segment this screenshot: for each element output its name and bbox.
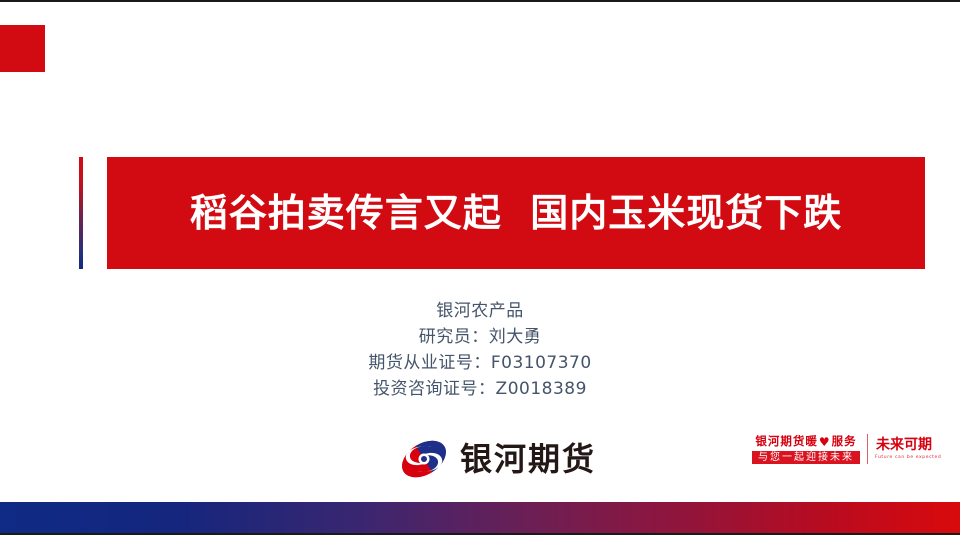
footer-stamp-group: 银河期货暖 ♥ 服务 与您一起迎接未来 未来可期 Future can be e… (752, 434, 933, 464)
service-slogan-suffix: 服务 (832, 434, 857, 449)
top-divider-rule (0, 0, 960, 2)
author-line-futures-license: 期货从业证号：F03107370 (0, 350, 960, 376)
page-title: 稻谷拍卖传言又起 国内玉米现货下跌 (190, 194, 842, 232)
author-line-researcher: 研究员：刘大勇 (0, 324, 960, 350)
stamp-divider (867, 434, 868, 464)
title-banner: 稻谷拍卖传言又起 国内玉米现货下跌 (107, 157, 925, 269)
footer-gradient-strip (0, 502, 960, 533)
presentation-slide: 稻谷拍卖传言又起 国内玉米现货下跌 银河农产品 研究员：刘大勇 期货从业证号：F… (0, 0, 960, 540)
bottom-divider-rule (0, 533, 960, 535)
future-slogan-stamp: 未来可期 Future can be expected (875, 437, 933, 461)
company-logo: 银河期货 (398, 436, 596, 482)
corner-accent-block (0, 25, 45, 72)
future-slogan-cn: 未来可期 (875, 437, 933, 454)
galaxy-swirl-icon (398, 436, 450, 482)
service-slogan-stamp: 银河期货暖 ♥ 服务 与您一起迎接未来 (752, 434, 860, 464)
author-line-department: 银河农产品 (0, 298, 960, 324)
service-slogan-prefix: 银河期货暖 (755, 434, 818, 449)
title-accent-bar (79, 157, 83, 269)
company-wordmark: 银河期货 (460, 443, 596, 475)
service-slogan-top-row: 银河期货暖 ♥ 服务 (752, 434, 860, 449)
heart-icon: ♥ (819, 436, 831, 448)
author-info-block: 银河农产品 研究员：刘大勇 期货从业证号：F03107370 投资咨询证号：Z0… (0, 298, 960, 402)
service-slogan-bottom-banner: 与您一起迎接未来 (752, 451, 860, 464)
author-line-consulting-license: 投资咨询证号：Z0018389 (0, 376, 960, 402)
future-slogan-en: Future can be expected (875, 454, 933, 461)
